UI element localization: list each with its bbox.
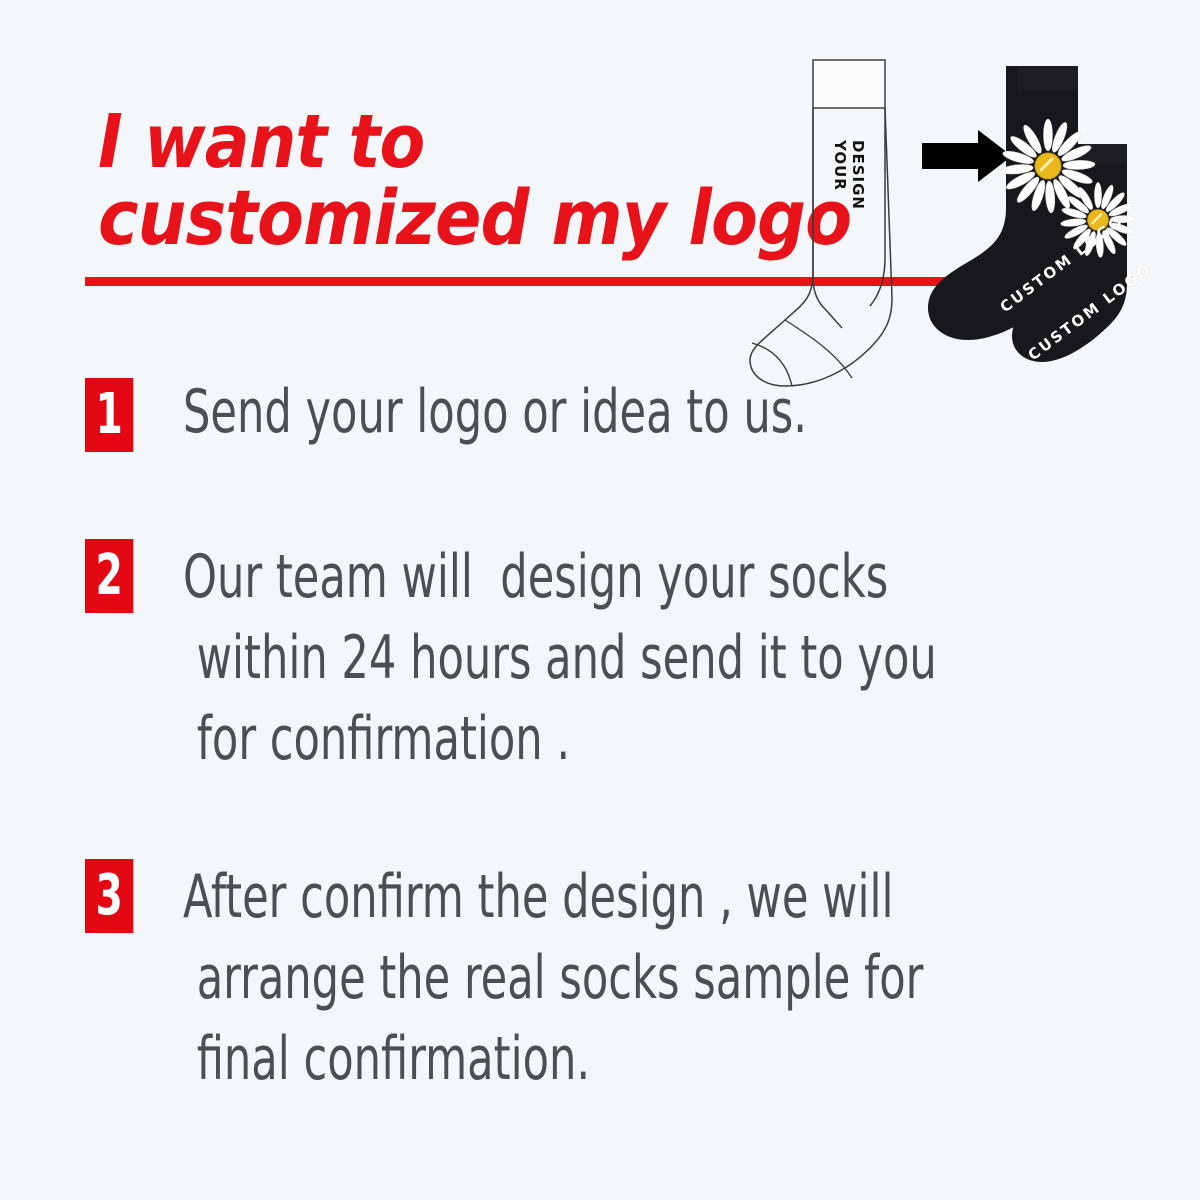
sock-illustration-group: YOUR DESIGN CUSTOM LOGO CUSTOM LOGO: [730, 48, 1190, 388]
step-text: Our team will design your socks within 2…: [183, 537, 1200, 780]
step-text: Send your logo or idea to us.: [183, 372, 1200, 453]
your-design-label-line2: DESIGN: [849, 140, 866, 210]
list-item: 3 After confirm the design , we will arr…: [85, 857, 1145, 1117]
step-text: After confirm the design , we will arran…: [183, 857, 1200, 1100]
arrow-right-icon: [922, 130, 1012, 182]
step-number-badge: 2: [85, 539, 133, 613]
step-number-badge: 1: [85, 378, 133, 452]
step-number-badge: 3: [85, 859, 133, 933]
steps-list: 1 Send your logo or idea to us. 2 Our te…: [85, 372, 1145, 1117]
your-design-label-line1: YOUR: [831, 140, 848, 191]
list-item: 2 Our team will design your socks within…: [85, 537, 1145, 857]
blank-sock-outline-icon: [750, 60, 892, 386]
list-item: 1 Send your logo or idea to us.: [85, 372, 1145, 537]
promo-graphic-canvas: I want to customized my logo: [0, 0, 1200, 1200]
